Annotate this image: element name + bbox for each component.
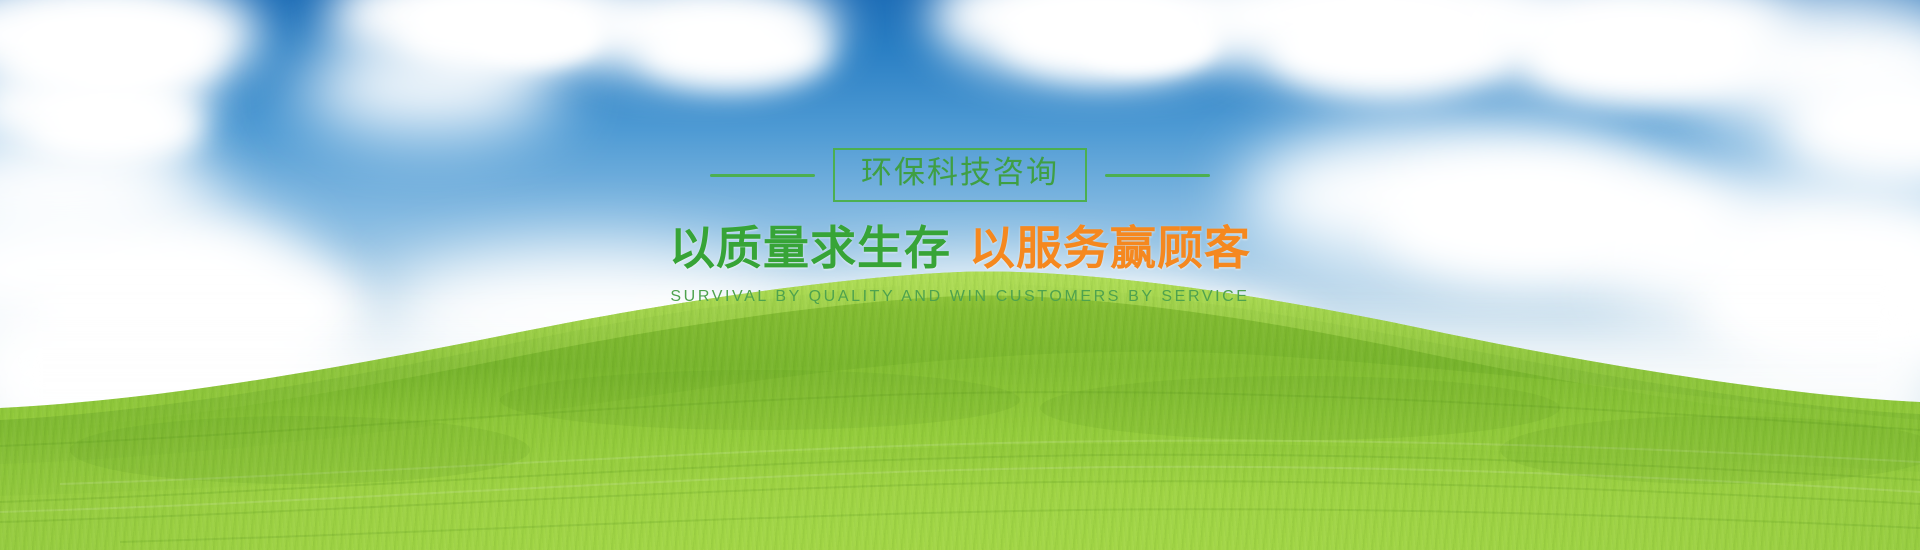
headline: 以质量求生存以服务赢顾客 xyxy=(669,224,1251,272)
hero-banner: 环保科技咨询 以质量求生存以服务赢顾客 SURVIVAL BY QUALITY … xyxy=(0,0,1920,550)
headline-part-orange: 以服务赢顾客 xyxy=(969,221,1251,275)
right-rule xyxy=(1105,174,1210,177)
subtitle: SURVIVAL BY QUALITY AND WIN CUSTOMERS BY… xyxy=(670,288,1249,306)
left-rule xyxy=(710,174,815,177)
eyebrow-row: 环保科技咨询 xyxy=(710,148,1210,202)
headline-part-green: 以质量求生存 xyxy=(669,221,951,275)
title-box: 环保科技咨询 xyxy=(833,148,1087,202)
title-box-label: 环保科技咨询 xyxy=(861,155,1059,191)
banner-content: 环保科技咨询 以质量求生存以服务赢顾客 SURVIVAL BY QUALITY … xyxy=(0,0,1920,550)
